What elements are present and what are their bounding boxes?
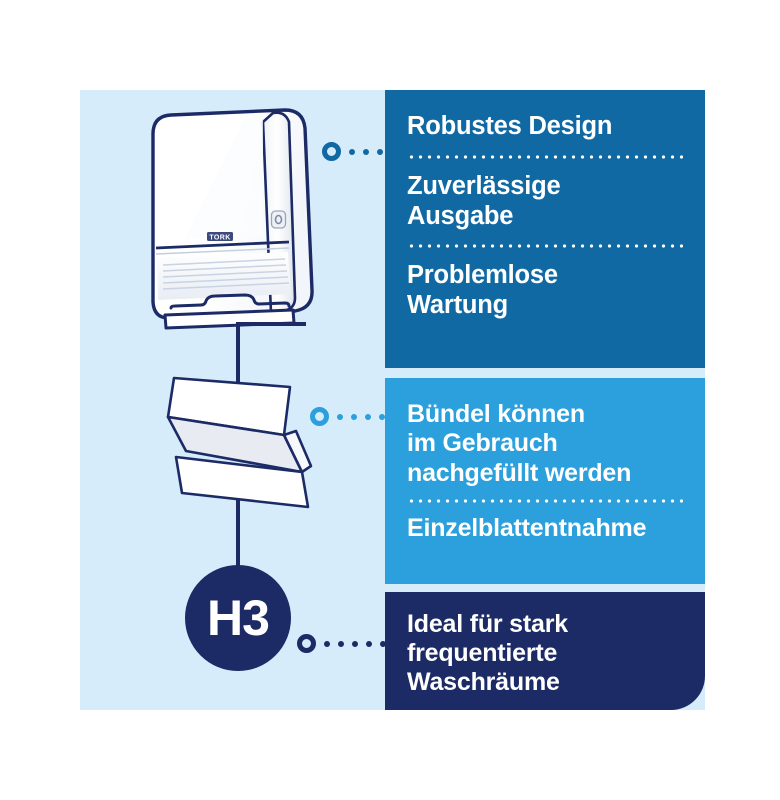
dispenser-illustration: TORK: [145, 108, 320, 333]
feature-item: Robustes Design: [407, 112, 683, 142]
feature-text-line: im Gebrauch: [407, 429, 683, 458]
h3-badge-label: H3: [207, 593, 269, 643]
dispenser-slats: [157, 252, 291, 300]
feature-divider: [407, 244, 683, 248]
feature-panel-secondary: Bündel können im Gebrauch nachgefüllt we…: [385, 378, 705, 584]
feature-text-line: Bündel können: [407, 400, 683, 429]
feature-item: Ideal für stark frequentierte Waschräume: [407, 610, 683, 697]
feature-divider: [407, 155, 683, 159]
feature-text-line: Wartung: [407, 291, 683, 321]
feature-text-line: Problemlose: [407, 261, 683, 291]
folded-towel-illustration: [150, 365, 335, 515]
feature-text-line: nachgefüllt werden: [407, 459, 683, 488]
connector-ring-icon: [322, 142, 341, 161]
feature-item: Zuverlässige Ausgabe: [407, 172, 683, 232]
tork-logo: TORK: [207, 232, 233, 241]
svg-text:TORK: TORK: [209, 234, 230, 241]
infographic-canvas: TORK: [0, 0, 780, 800]
feature-text-line: Einzelblattentnahme: [407, 514, 683, 543]
connector-ring-icon: [310, 407, 329, 426]
h3-system-badge: H3: [185, 565, 291, 671]
feature-text-line: Waschräume: [407, 668, 683, 697]
lock-icon: [272, 211, 286, 228]
connector-ring-icon: [297, 634, 316, 653]
feature-item: Bündel können im Gebrauch nachgefüllt we…: [407, 400, 683, 488]
feature-text-line: Ideal für stark: [407, 610, 683, 639]
feature-text-line: Robustes Design: [407, 112, 683, 142]
feature-text-line: Ausgabe: [407, 202, 683, 232]
feature-item: Einzelblattentnahme: [407, 514, 683, 543]
feature-panel-primary: Robustes Design Zuverlässige Ausgabe Pro…: [385, 90, 705, 368]
feature-divider: [407, 499, 683, 503]
feature-text-line: frequentierte: [407, 639, 683, 668]
spine-connector-top-bar: [236, 322, 306, 326]
feature-item: Problemlose Wartung: [407, 261, 683, 321]
feature-text-line: Zuverlässige: [407, 172, 683, 202]
feature-panel-tertiary: Ideal für stark frequentierte Waschräume: [385, 592, 705, 710]
